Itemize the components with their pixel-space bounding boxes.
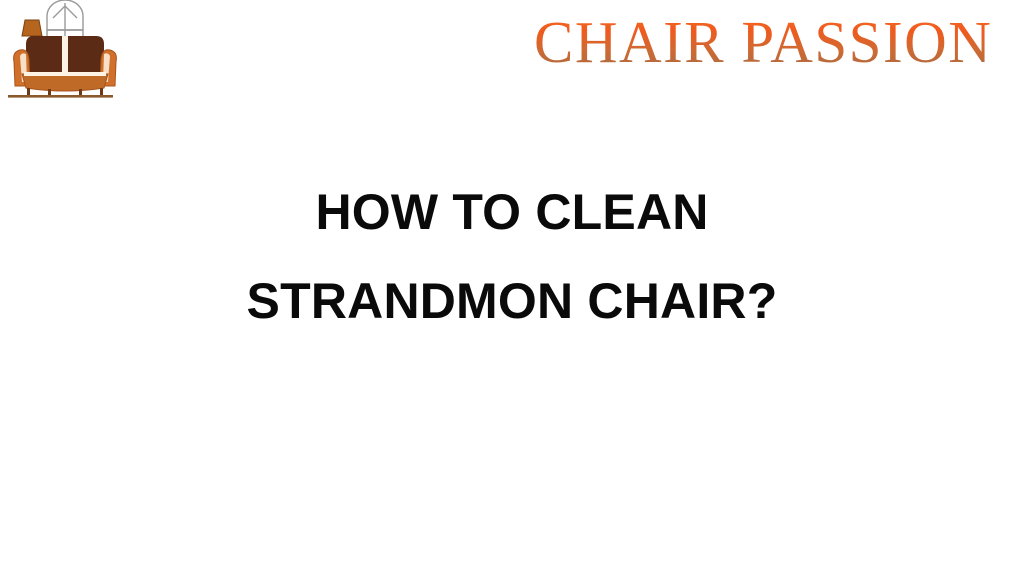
page-title-line-1: HOW TO CLEAN	[0, 168, 1024, 257]
sofa-seat	[22, 72, 108, 91]
sofa-back	[26, 36, 104, 76]
page-title: HOW TO CLEAN STRANDMON CHAIR?	[0, 168, 1024, 346]
page-title-line-2: STRANDMON CHAIR?	[0, 257, 1024, 346]
page-canvas: CHAIR PASSION HOW TO CLEAN STRANDMON CHA…	[0, 0, 1024, 576]
brand-wordmark: CHAIR PASSION	[534, 6, 1024, 78]
floor-line	[8, 95, 113, 98]
sofa-lamp-window-icon	[0, 0, 130, 108]
